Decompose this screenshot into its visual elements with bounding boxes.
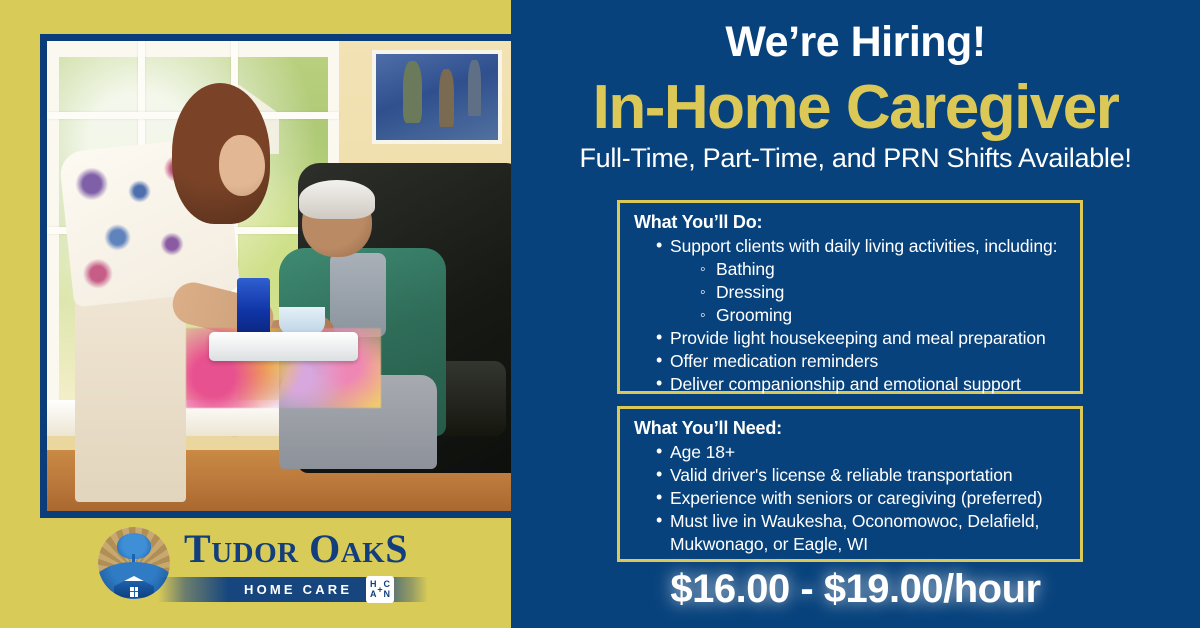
- house-window-icon: [130, 587, 139, 597]
- caregiver-face: [219, 135, 265, 196]
- responsibility-text: Offer medication reminders: [670, 351, 878, 371]
- requirements-title: What You’ll Need:: [634, 418, 1068, 439]
- hcan-letter-n: N: [384, 590, 391, 599]
- responsibility-text: Deliver companionship and emotional supp…: [670, 374, 1021, 394]
- responsibility-subitem: Grooming: [700, 304, 1068, 327]
- requirements-box: What You’ll Need: Age 18+Valid driver's …: [617, 406, 1083, 562]
- responsibility-text: Support clients with daily living activi…: [670, 236, 1057, 256]
- responsibility-text: Provide light housekeeping and meal prep…: [670, 328, 1046, 348]
- hcan-accreditation-badge-icon: H C + A N: [366, 576, 394, 603]
- responsibility-subitem: Dressing: [700, 281, 1068, 304]
- left-brand-panel: TUDOR OAKS HOME CARE H C + A N: [0, 0, 511, 628]
- responsibility-sublist: BathingDressingGrooming: [670, 258, 1068, 327]
- hcan-letter-a: A: [370, 590, 377, 599]
- hiring-headline: We’re Hiring!: [511, 18, 1200, 67]
- requirement-item: Must live in Waukesha, Oconomowoc, Delaf…: [656, 510, 1068, 556]
- wall-artwork: [372, 50, 502, 144]
- requirement-item: Age 18+: [656, 441, 1068, 464]
- requirement-item: Valid driver's license & reliable transp…: [656, 464, 1068, 487]
- requirements-list: Age 18+Valid driver's license & reliable…: [634, 441, 1068, 556]
- wordmark-ak: AK: [341, 537, 386, 569]
- caregiver-photo: [47, 41, 511, 511]
- tudor-oaks-logo: TUDOR OAKS HOME CARE H C + A N: [98, 527, 428, 603]
- responsibilities-box: What You’ll Do: Support clients with dai…: [617, 200, 1083, 394]
- wordmark-o: O: [309, 526, 341, 571]
- hcan-letter-c: C: [384, 580, 391, 589]
- job-posting-poster: TUDOR OAKS HOME CARE H C + A N We’re Hir…: [0, 0, 1200, 628]
- wordmark-udor: UDOR: [211, 537, 298, 569]
- blue-tumbler: [237, 278, 269, 339]
- wordmark-t: T: [184, 526, 211, 571]
- responsibility-item: Provide light housekeeping and meal prep…: [656, 327, 1068, 350]
- senior-shirt: [330, 253, 386, 338]
- right-content-panel: We’re Hiring! In-Home Caregiver Full-Tim…: [511, 0, 1200, 628]
- shift-availability-subhead: Full-Time, Part-Time, and PRN Shifts Ava…: [511, 143, 1200, 174]
- wage-range: $16.00 - $19.00/hour: [511, 567, 1200, 612]
- home-care-label: HOME CARE: [244, 582, 352, 597]
- caregiver-pants: [75, 285, 186, 501]
- photo-frame: [40, 34, 511, 518]
- job-title-headline: In-Home Caregiver: [511, 72, 1200, 143]
- meal-tray: [209, 332, 357, 360]
- photo-scene: [47, 41, 511, 511]
- hcan-letter-h: H: [370, 580, 377, 589]
- hcan-plus-icon: +: [377, 585, 382, 594]
- responsibility-item: Offer medication reminders: [656, 350, 1068, 373]
- requirement-item: Experience with seniors or caregiving (p…: [656, 487, 1068, 510]
- senior-hair: [299, 180, 374, 219]
- responsibility-item: Deliver companionship and emotional supp…: [656, 373, 1068, 396]
- responsibilities-title: What You’ll Do:: [634, 212, 1068, 233]
- logo-wordmark: TUDOR OAKS: [184, 529, 408, 569]
- responsibility-item: Support clients with daily living activi…: [656, 235, 1068, 327]
- responsibilities-list: Support clients with daily living activi…: [634, 235, 1068, 396]
- responsibility-subitem: Bathing: [700, 258, 1068, 281]
- wordmark-s: S: [385, 526, 408, 571]
